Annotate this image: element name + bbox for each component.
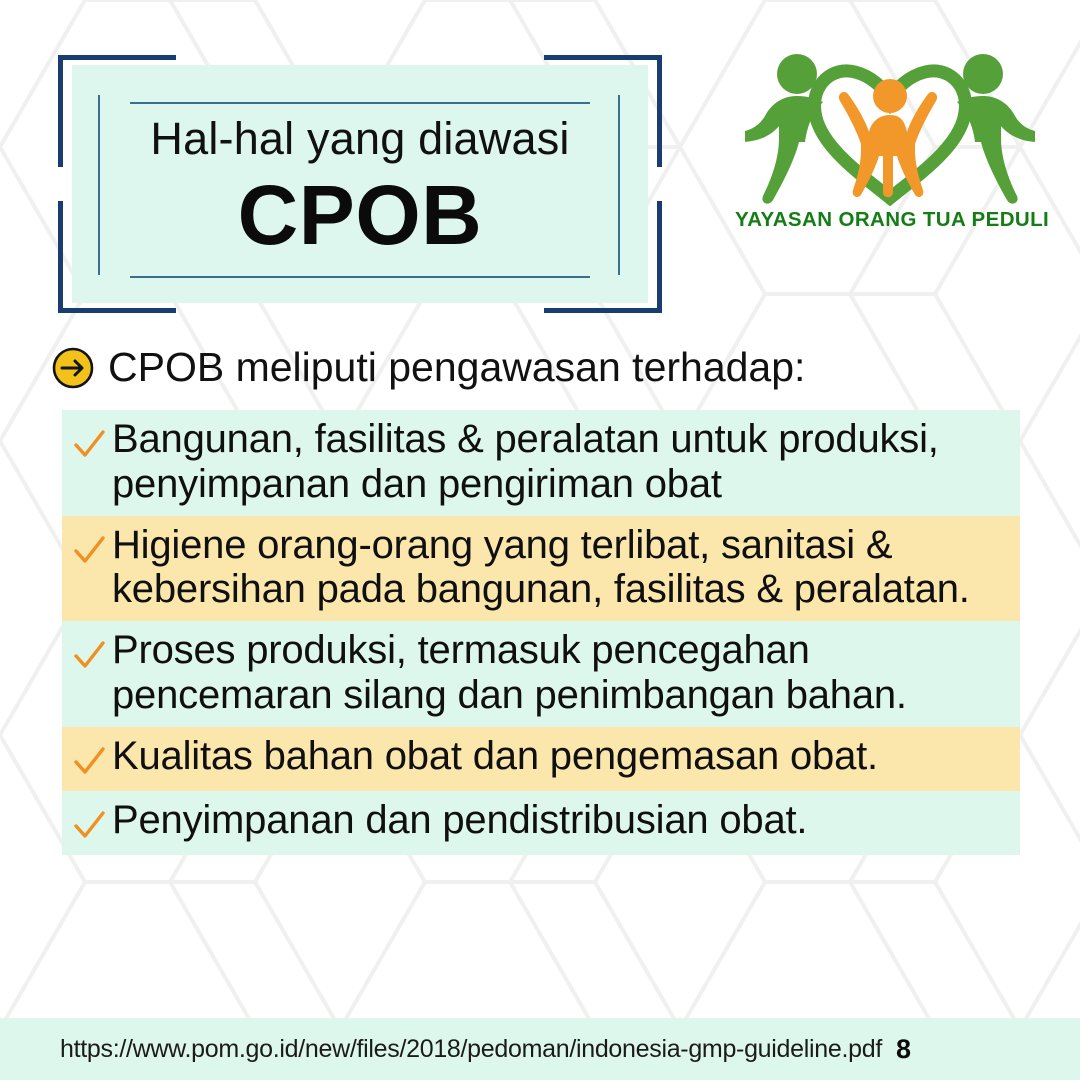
logo-caption: YAYASAN ORANG TUA PEDULI <box>735 208 1045 232</box>
intro-line: CPOB meliputi pengawasan terhadap: <box>52 344 805 391</box>
check-icon <box>70 806 108 846</box>
list-item: Proses produksi, termasuk pencegahan pen… <box>62 621 1020 727</box>
list-item-label: Kualitas bahan obat dan pengemasan obat. <box>112 734 878 779</box>
check-icon <box>70 425 108 465</box>
organization-logo: YAYASAN ORANG TUA PEDULI <box>735 46 1045 246</box>
list-item: Kualitas bahan obat dan pengemasan obat. <box>62 727 1020 791</box>
source-url[interactable]: https://www.pom.go.id/new/files/2018/ped… <box>60 1035 882 1064</box>
title-card: Hal-hal yang diawasi CPOB <box>58 55 662 313</box>
list-item-label: Bangunan, fasilitas & peralatan untuk pr… <box>112 417 1008 507</box>
frame-inner-line-bottom <box>130 276 590 278</box>
check-icon <box>70 742 108 782</box>
people-heart-icon <box>745 46 1035 206</box>
list-item: Penyimpanan dan pendistribusian obat. <box>62 791 1020 855</box>
page-number: 8 <box>896 1034 911 1065</box>
intro-text: CPOB meliputi pengawasan terhadap: <box>108 344 805 391</box>
check-icon <box>70 636 108 676</box>
list-item-label: Proses produksi, termasuk pencegahan pen… <box>112 628 1008 718</box>
footer-bar: https://www.pom.go.id/new/files/2018/ped… <box>0 1018 1080 1080</box>
title-heading: CPOB <box>58 167 662 264</box>
list-item: Higiene orang-orang yang terlibat, sanit… <box>62 516 1020 622</box>
arrow-circle-right-icon <box>52 347 94 389</box>
checklist: Bangunan, fasilitas & peralatan untuk pr… <box>62 410 1020 855</box>
frame-inner-line-top <box>130 102 590 104</box>
check-icon <box>70 531 108 571</box>
slide-canvas: Hal-hal yang diawasi CPOB YAYASAN ORANG … <box>0 0 1080 1080</box>
list-item: Bangunan, fasilitas & peralatan untuk pr… <box>62 410 1020 516</box>
list-item-label: Penyimpanan dan pendistribusian obat. <box>112 798 807 843</box>
list-item-label: Higiene orang-orang yang terlibat, sanit… <box>112 523 1008 613</box>
title-subheading: Hal-hal yang diawasi <box>58 113 662 165</box>
